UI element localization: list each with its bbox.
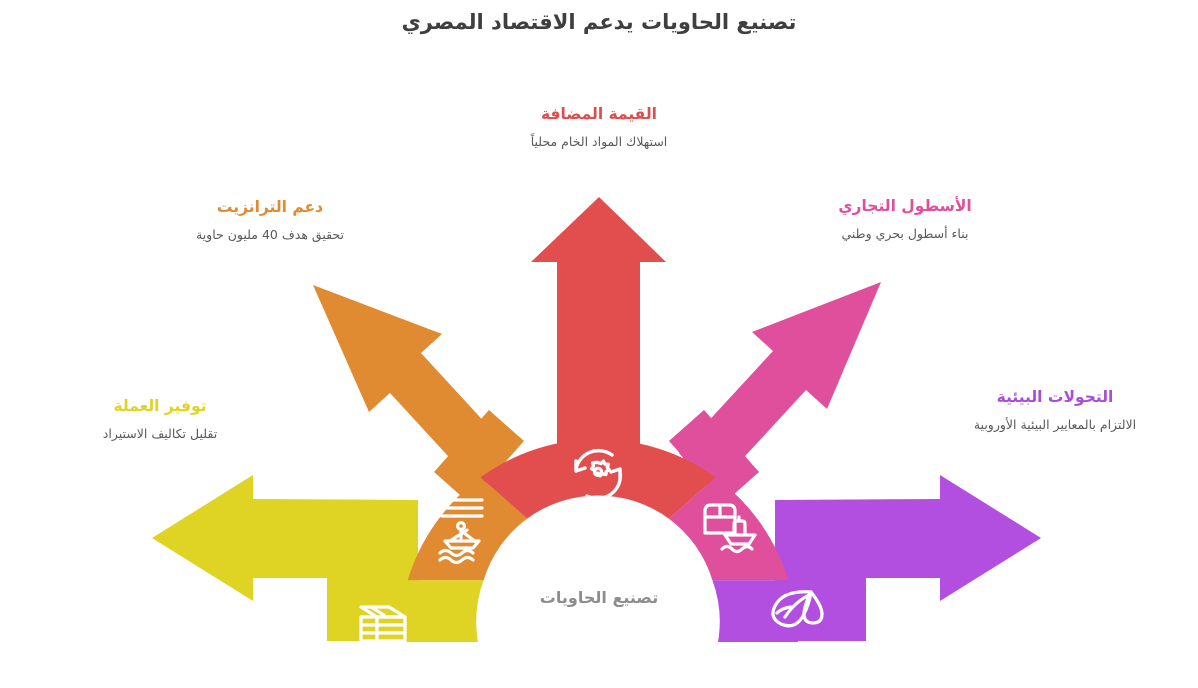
arrow-environment <box>775 475 1041 641</box>
callout-title-environment: التحولات البيئية <box>930 387 1180 407</box>
infographic-root: تصنيع الحاويات يدعم الاقتصاد المصري <box>0 0 1198 688</box>
callout-title-currency: توفير العملة <box>45 396 275 416</box>
callout-fleet: الأسطول التجاري بناء أسطول بحري وطني <box>790 196 1020 243</box>
callout-desc-value-added: استهلاك المواد الخام محلياً <box>449 133 749 151</box>
callout-currency: توفير العملة تقليل تكاليف الاستيراد <box>45 396 275 443</box>
callout-title-fleet: الأسطول التجاري <box>790 196 1020 216</box>
callout-transit: دعم الترانزيت تحقيق هدف 40 مليون حاوية <box>155 197 385 244</box>
callout-desc-currency: تقليل تكاليف الاستيراد <box>45 425 275 443</box>
callout-desc-environment: الالتزام بالمعايير البيئية الأوروبية <box>930 416 1180 435</box>
callout-environment: التحولات البيئية الالتزام بالمعايير البي… <box>930 387 1180 435</box>
center-hub-label: تصنيع الحاويات <box>449 588 749 607</box>
callout-desc-fleet: بناء أسطول بحري وطني <box>790 225 1020 243</box>
callout-title-transit: دعم الترانزيت <box>155 197 385 217</box>
callout-desc-transit: تحقيق هدف 40 مليون حاوية <box>155 226 385 244</box>
callout-title-value-added: القيمة المضافة <box>449 104 749 124</box>
arrow-value-added <box>531 197 666 470</box>
callout-value-added: القيمة المضافة استهلاك المواد الخام محلي… <box>449 104 749 151</box>
